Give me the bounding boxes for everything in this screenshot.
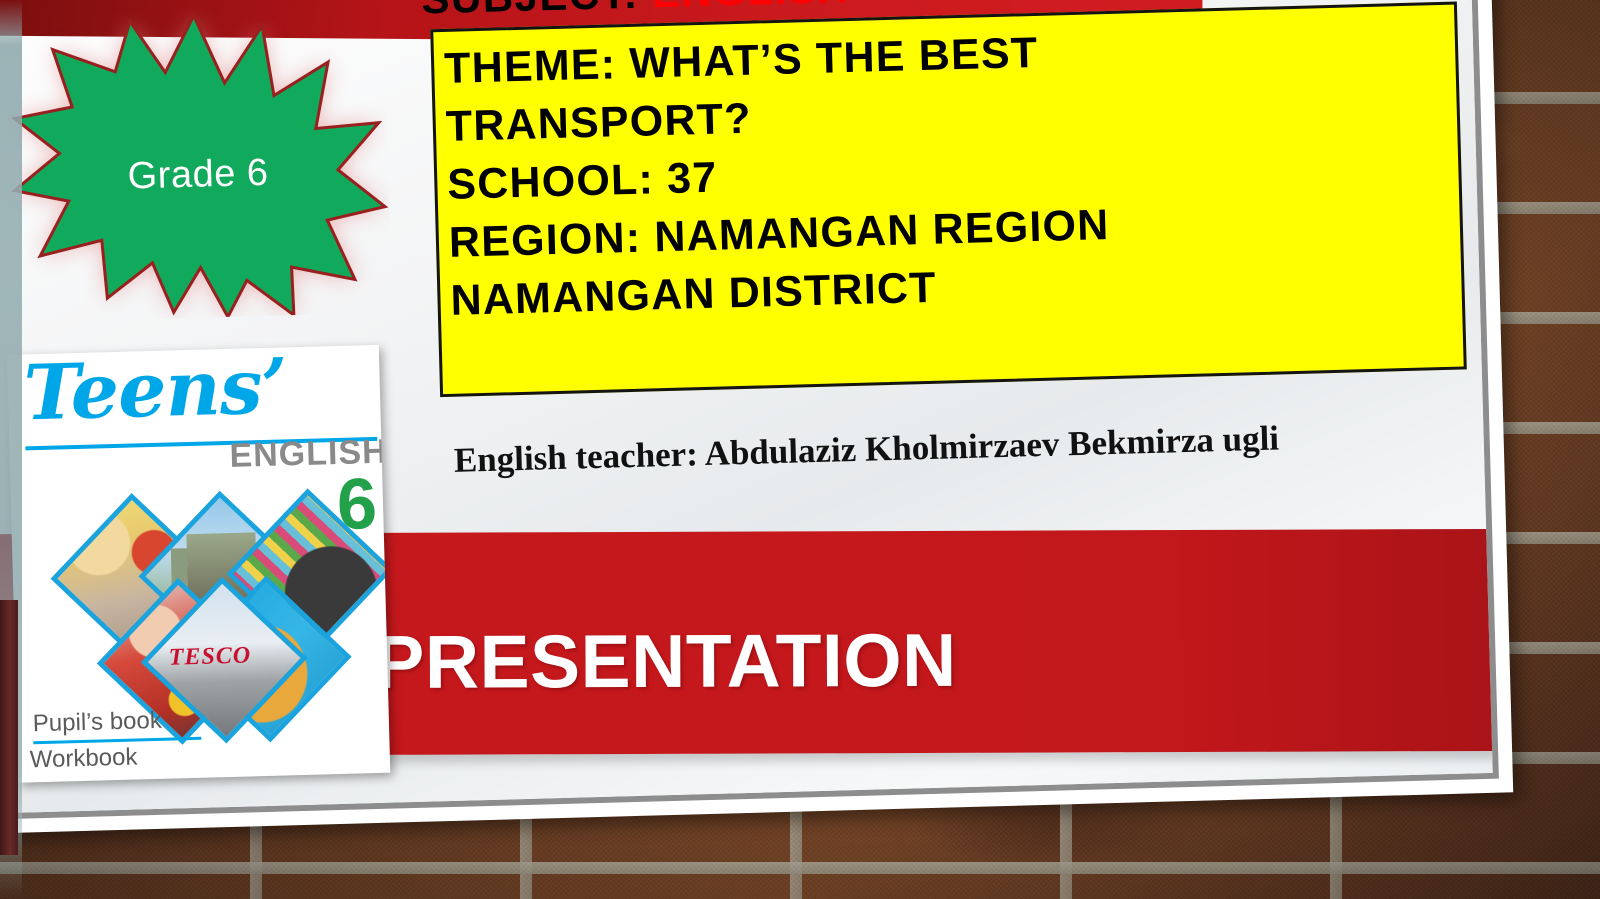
grade-badge: Grade 6 [4,1,392,323]
book-brand-text: Teens’ [23,345,288,438]
info-box: THEME: WHAT’S THE BEST TRANSPORT? SCHOOL… [430,2,1467,398]
book-pupils-book-text: Pupil’s book [32,707,162,738]
slide-panel: ENGLISH PRESENTATION SUBJECT: ENGLISH TH… [0,0,1513,834]
textbook-cover-image: Teens’ ENGLISH 6 Pupil’s book Workbook [7,345,390,783]
book-workbook-text: Workbook [29,744,137,775]
slide-content-surface: ENGLISH PRESENTATION SUBJECT: ENGLISH TH… [0,0,1493,813]
left-edge-maroon-strip [0,600,18,855]
teacher-name-line: English teacher: Abdulaziz Kholmirzaev B… [453,419,1279,481]
starburst-shape-icon [10,11,388,323]
slide-screenshot: ENGLISH PRESENTATION SUBJECT: ENGLISH TH… [0,0,1600,899]
